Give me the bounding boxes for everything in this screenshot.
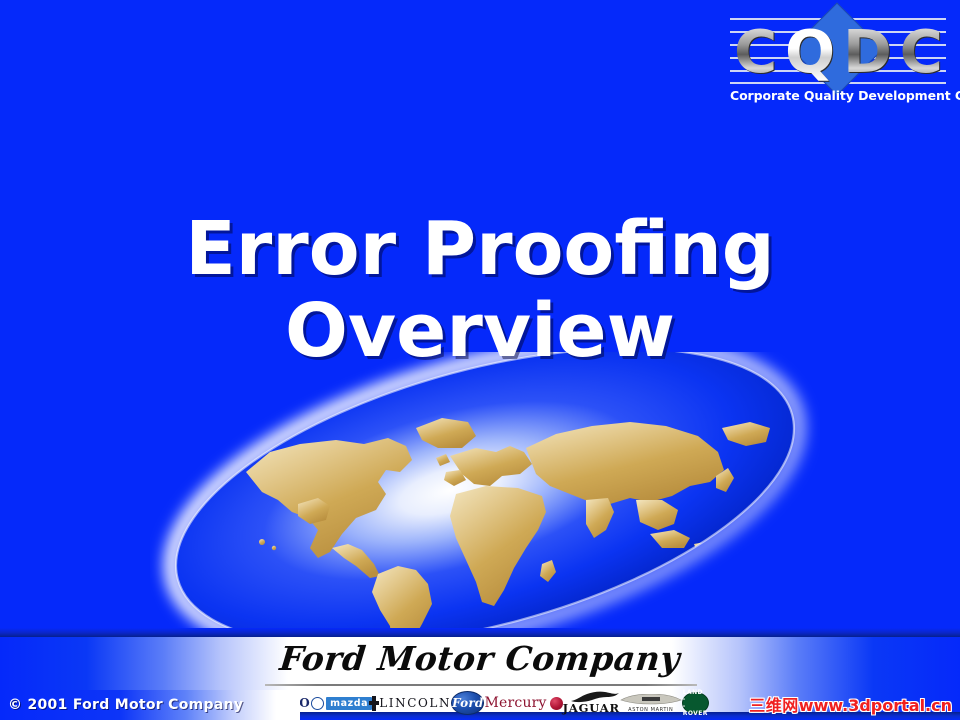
slide-canvas: C Q D C Corporate Quality Development Ce… (0, 0, 960, 720)
cqdc-letter-q: Q (785, 22, 834, 81)
cqdc-letter-d: D (843, 22, 891, 81)
watermark-cn-text: 三维网 (749, 696, 799, 715)
brand-divider-rule (265, 684, 697, 686)
aston-martin-wordmark: ASTON MARTIN (628, 707, 673, 713)
brand-logo-jaguar[interactable]: JAGUAR (563, 691, 620, 715)
cqdc-letters: C Q D C (730, 14, 946, 88)
aston-martin-wings-icon (620, 694, 682, 706)
site-watermark: 三维网www.3dportal.cn (749, 692, 952, 716)
lincoln-wordmark: LINCOLN (379, 696, 451, 710)
title-line-2: Overview (0, 290, 960, 372)
brand-logo-mazda[interactable]: mazda (311, 691, 372, 715)
mazda-emblem-icon (311, 697, 324, 710)
ford-motor-company-wordmark: Ford Motor Company (0, 639, 960, 678)
land-rover-wordmark-top: LAND - (683, 689, 708, 703)
watermark-url-text: www.3dportal.cn (799, 696, 952, 715)
brand-logo-land-rover[interactable]: LAND - - ROVER (682, 692, 709, 714)
lincoln-star-icon (372, 696, 376, 711)
jaguar-leaper-icon (569, 690, 621, 703)
title-line-1: Error Proofing (0, 208, 960, 290)
copyright-text: © 2001 Ford Motor Company (0, 697, 243, 713)
globe-graphic (150, 352, 820, 642)
brand-logo-aston-martin[interactable]: ASTON MARTIN (620, 691, 682, 715)
footer-top-band (0, 628, 960, 637)
cqdc-logomark: C Q D C (730, 14, 946, 88)
brand-logo-lincoln[interactable]: LINCOLN (372, 691, 451, 715)
cqdc-logo: C Q D C Corporate Quality Development Ce… (730, 14, 946, 110)
brand-logo-row: VOLVO mazda LINCOLN Ford Mercury (258, 690, 706, 716)
mazda-wordmark: mazda (326, 697, 372, 710)
cqdc-tagline: Corporate Quality Development Center (730, 88, 946, 103)
brand-logo-mercury[interactable]: Mercury (484, 691, 562, 715)
brand-logo-ford[interactable]: Ford (451, 691, 484, 715)
copyright-strip: © 2001 Ford Motor Company (0, 690, 300, 720)
mercury-emblem-icon (550, 697, 563, 710)
page-title: Error Proofing Overview (0, 208, 960, 372)
cqdc-letter-c2: C (900, 22, 942, 81)
mercury-wordmark: Mercury (484, 695, 546, 711)
jaguar-wordmark: JAGUAR (563, 701, 620, 715)
land-rover-wordmark-bottom: - ROVER (683, 703, 708, 717)
cqdc-letter-c1: C (734, 22, 776, 81)
ford-oval-wordmark: Ford (452, 696, 483, 710)
